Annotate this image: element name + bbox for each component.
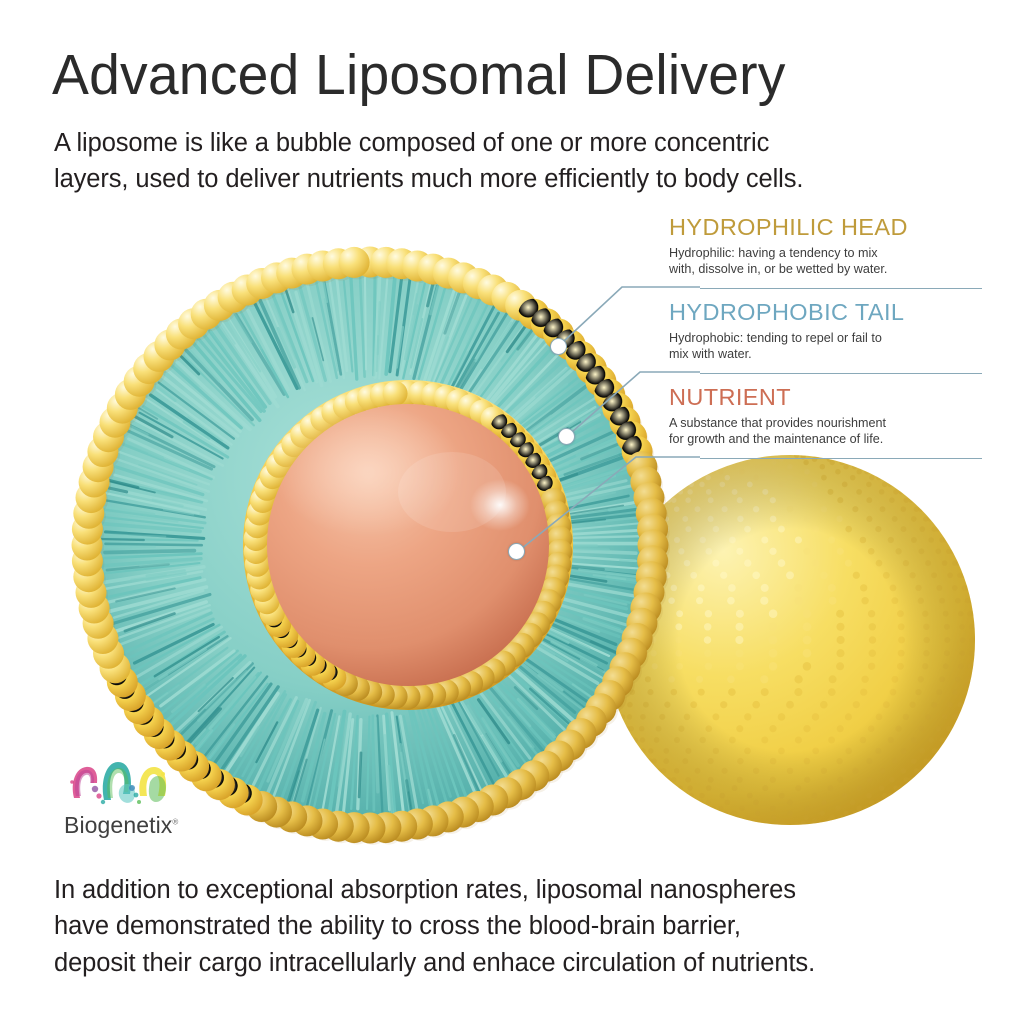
connector-line-nutrient (521, 457, 700, 549)
secondary-nanosphere (602, 453, 977, 827)
footer-line-1: In addition to exceptional absorption ra… (54, 872, 974, 908)
callout-heading-hydrophilic-head: HYDROPHILIC HEAD (669, 215, 979, 241)
biogenetix-logo: Biogenetix® (64, 752, 194, 848)
inner-head-ring (244, 381, 573, 710)
biogenetix-wordmark-text: Biogenetix (64, 812, 172, 838)
hydrophobic-tail-layer (87, 262, 653, 828)
callout-desc-line-2: with, dissolve in, or be wetted by water… (669, 261, 979, 277)
callout-heading-hydrophobic-tail: HYDROPHOBIC TAIL (669, 300, 979, 326)
biogenetix-logo-mark (64, 752, 184, 810)
callout-desc-line-1: Hydrophobic: tending to repel or fail to (669, 330, 979, 346)
callout-rule-hydrophilic-head (700, 288, 982, 289)
infographic-page: Advanced Liposomal Delivery A liposome i… (0, 0, 1024, 1024)
biogenetix-wordmark: Biogenetix® (64, 812, 178, 839)
callout-hydrophobic-tail: HYDROPHOBIC TAIL Hydrophobic: tending to… (669, 300, 979, 362)
tail-strokes (72, 240, 686, 836)
callout-desc-line-1: A substance that provides nourishment (669, 415, 979, 431)
callout-desc-nutrient: A substance that provides nourishment fo… (669, 415, 979, 447)
callout-desc-line-2: mix with water. (669, 346, 979, 362)
subtitle-line-1: A liposome is like a bubble composed of … (54, 126, 954, 162)
footer-line-2: have demonstrated the ability to cross t… (54, 908, 974, 944)
trademark-icon: ® (172, 817, 178, 826)
footer-paragraph: In addition to exceptional absorption ra… (54, 872, 974, 981)
callout-desc-line-2: for growth and the maintenance of life. (669, 431, 979, 447)
callout-heading-nutrient: NUTRIENT (669, 385, 979, 411)
callout-dot-nutrient (508, 543, 525, 560)
page-subtitle: A liposome is like a bubble composed of … (54, 126, 954, 197)
callout-dot-hydrophilic-head (550, 338, 567, 355)
callout-rule-nutrient (700, 458, 982, 459)
subtitle-line-2: layers, used to deliver nutrients much m… (54, 162, 954, 198)
nutrient-core (267, 404, 549, 686)
callout-dot-hydrophobic-tail (558, 428, 575, 445)
callout-rule-hydrophobic-tail (700, 373, 982, 374)
callout-nutrient: NUTRIENT A substance that provides nouri… (669, 385, 979, 447)
page-title: Advanced Liposomal Delivery (52, 46, 954, 105)
callout-desc-hydrophilic-head: Hydrophilic: having a tendency to mix wi… (669, 245, 979, 277)
callout-hydrophilic-head: HYDROPHILIC HEAD Hydrophilic: having a t… (669, 215, 979, 277)
callout-desc-line-1: Hydrophilic: having a tendency to mix (669, 245, 979, 261)
callout-desc-hydrophobic-tail: Hydrophobic: tending to repel or fail to… (669, 330, 979, 362)
footer-line-3: deposit their cargo intracellularly and … (54, 945, 974, 981)
